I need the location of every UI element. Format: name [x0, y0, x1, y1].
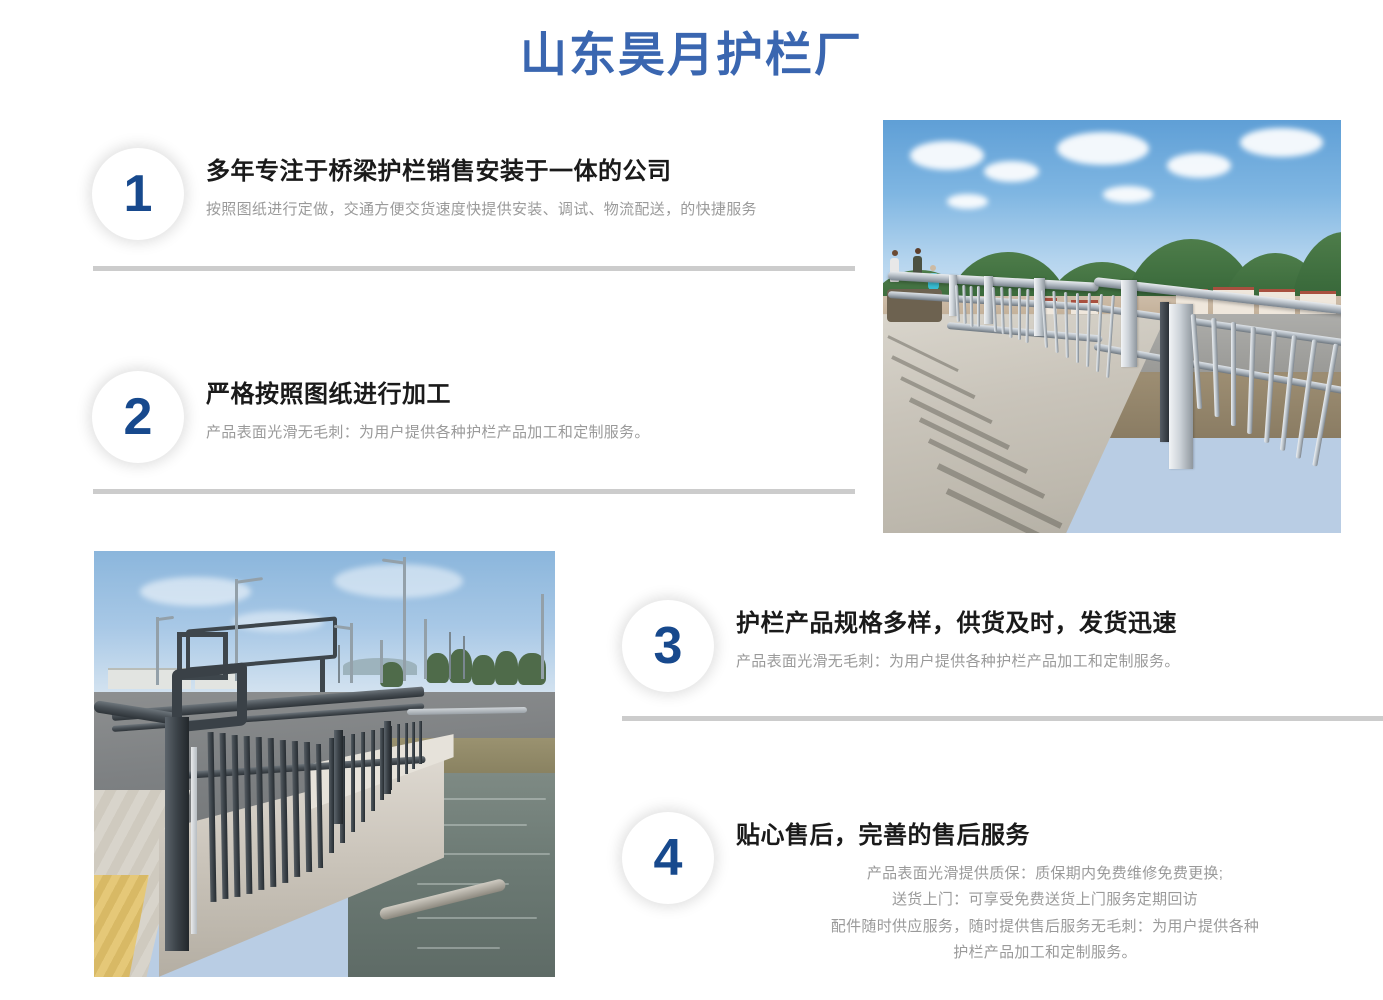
cloud [910, 141, 983, 170]
feature-item-3: 3 护栏产品规格多样，供货及时，发货迅速 产品表面光滑无毛刺：为用户提供各种护栏… [622, 600, 1382, 692]
feature-title-3: 护栏产品规格多样，供货及时，发货迅速 [736, 608, 1180, 639]
tree [426, 653, 449, 683]
cloud [947, 194, 988, 208]
feature-divider-3 [622, 716, 1383, 721]
street-lamp [156, 617, 159, 685]
feature-item-1: 1 多年专注于桥梁护栏销售安装于一体的公司 按照图纸进行定做，交通方便交货速度快… [92, 148, 872, 240]
street-lamp [350, 623, 353, 683]
promo-page: 山东昊月护栏厂 1 多年专注于桥梁护栏销售安装于一体的公司 按照图纸进行定做，交… [0, 0, 1383, 1000]
feature-desc-line: 配件随时供应服务，随时提供售后服务无毛刺：为用户提供各种 [736, 914, 1354, 940]
cloud [1240, 128, 1322, 157]
cloud [984, 161, 1039, 182]
feature-desc-line: 按照图纸进行定做，交通方便交货速度快提供安装、调试、物流配送，的快捷服务 [206, 197, 757, 223]
person-head [892, 250, 898, 256]
feature-number-4: 4 [654, 832, 683, 884]
gantry-leg [320, 658, 325, 692]
feature-number-badge-2: 2 [92, 371, 184, 463]
street-lamp [403, 557, 406, 681]
feature-desc-line: 产品表面光滑无毛刺：为用户提供各种护栏产品加工和定制服务。 [736, 649, 1180, 675]
feature-desc-line: 产品表面光滑提供质保：质保期内免费维修免费更换; [736, 861, 1354, 887]
feature-divider-2 [93, 489, 855, 494]
feature-number-3: 3 [654, 620, 683, 672]
feature-text-2: 严格按照图纸进行加工 产品表面光滑无毛刺：为用户提供各种护栏产品加工和定制服务。 [184, 371, 650, 446]
pylon [463, 636, 465, 679]
cloud [334, 564, 463, 598]
tree [495, 651, 518, 685]
pylon [338, 645, 340, 683]
feature-title-4: 贴心售后，完善的售后服务 [736, 820, 1354, 851]
rail-post [984, 276, 993, 323]
feature-text-4: 贴心售后，完善的售后服务 产品表面光滑提供质保：质保期内免费维修免费更换; 送货… [714, 812, 1354, 966]
feature-desc-line: 送货上门：可享受免费送货上门服务定期回访 [736, 887, 1354, 913]
bridge-guardrail-estuary-photo [883, 120, 1341, 533]
feature-text-3: 护栏产品规格多样，供货及时，发货迅速 产品表面光滑无毛刺：为用户提供各种护栏产品… [714, 600, 1180, 675]
feature-desc-2: 产品表面光滑无毛刺：为用户提供各种护栏产品加工和定制服务。 [206, 420, 650, 446]
feature-title-1: 多年专注于桥梁护栏销售安装于一体的公司 [206, 156, 757, 187]
feature-number-2: 2 [124, 391, 153, 443]
feature-desc-3: 产品表面光滑无毛刺：为用户提供各种护栏产品加工和定制服务。 [736, 649, 1180, 675]
feature-item-4: 4 贴心售后，完善的售后服务 产品表面光滑提供质保：质保期内免费维修免费更换; … [622, 812, 1382, 966]
cloud [1167, 153, 1231, 178]
railing-post [384, 721, 391, 793]
rail-post [1121, 280, 1137, 367]
feature-number-badge-1: 1 [92, 148, 184, 240]
person-head [930, 265, 936, 271]
dark-steel-railing-canal-photo [94, 551, 555, 977]
tree [380, 662, 403, 688]
rail-post-large [1169, 304, 1193, 469]
railing-post-highlight [191, 747, 197, 934]
feature-text-1: 多年专注于桥梁护栏销售安装于一体的公司 按照图纸进行定做，交通方便交货速度快提供… [184, 148, 757, 223]
railing-post [334, 730, 343, 824]
feature-desc-1: 按照图纸进行定做，交通方便交货速度快提供安装、调试、物流配送，的快捷服务 [206, 197, 757, 223]
street-lamp [541, 594, 544, 679]
feature-number-badge-3: 3 [622, 600, 714, 692]
feature-title-2: 严格按照图纸进行加工 [206, 379, 650, 410]
tree [472, 655, 495, 685]
cloud [1103, 186, 1153, 203]
railing-main-post [165, 717, 189, 951]
person-head [915, 248, 921, 254]
feature-number-badge-4: 4 [622, 812, 714, 904]
page-title: 山东昊月护栏厂 [0, 28, 1383, 82]
feature-desc-line: 产品表面光滑无毛刺：为用户提供各种护栏产品加工和定制服务。 [206, 420, 650, 446]
tree [449, 649, 472, 683]
feature-number-1: 1 [124, 168, 153, 220]
street-lamp [424, 619, 427, 679]
feature-item-2: 2 严格按照图纸进行加工 产品表面光滑无毛刺：为用户提供各种护栏产品加工和定制服… [92, 371, 872, 463]
feature-desc-line: 护栏产品加工和定制服务。 [736, 940, 1354, 966]
rail-post-dark [1160, 302, 1169, 442]
feature-desc-4: 产品表面光滑提供质保：质保期内免费维修免费更换; 送货上门：可享受免费送货上门服… [736, 861, 1354, 966]
pylon [449, 632, 451, 679]
feature-divider-1 [93, 266, 855, 271]
street-lamp [380, 640, 383, 683]
